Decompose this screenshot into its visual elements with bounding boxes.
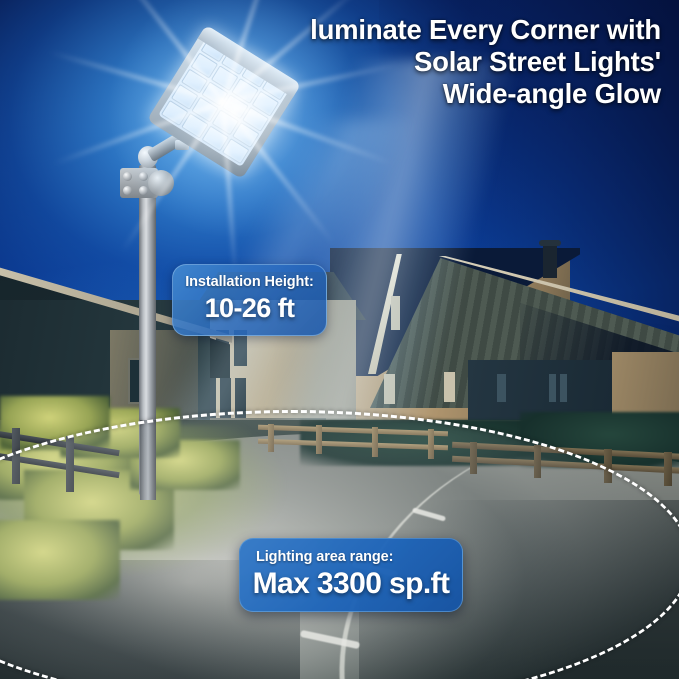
fence-post [604,449,612,483]
clamp-bolt [123,186,132,195]
fence-post [66,436,74,492]
barn-window [560,374,567,402]
chimney-cap [539,240,561,246]
clamp-bolt [139,172,148,181]
fence-post [268,424,274,452]
chimney [543,244,557,278]
headline-line-2: Solar Street Lights' [310,46,661,78]
marketing-banner: luminate Every Corner with Solar Street … [0,0,679,679]
barn-window [497,374,506,402]
callout-label: Installation Height: [173,274,326,290]
callout-lighting-area: Lighting area range: Max 3300 sp.ft [239,538,463,612]
fence-post [428,429,434,459]
callout-installation-height: Installation Height: 10-26 ft [172,264,327,336]
fence-post [470,442,477,474]
fence-post [12,428,20,484]
headline-line-3: Wide-angle Glow [310,78,661,110]
clamp-bolt [139,186,148,195]
barn-window [444,372,455,402]
callout-value: Max 3300 sp.ft [240,567,462,601]
fence-post [664,452,672,486]
fence-post [372,427,378,457]
headline: luminate Every Corner with Solar Street … [310,14,661,111]
headline-line-1: luminate Every Corner with [310,14,661,46]
fence-post [534,445,541,478]
fence-post [316,425,322,454]
callout-label: Lighting area range: [240,549,462,565]
clamp-bolt [123,172,132,181]
barn-window [549,374,556,402]
grass-patch [0,520,120,600]
light-pole-base [140,420,156,500]
callout-value: 10-26 ft [173,293,326,324]
